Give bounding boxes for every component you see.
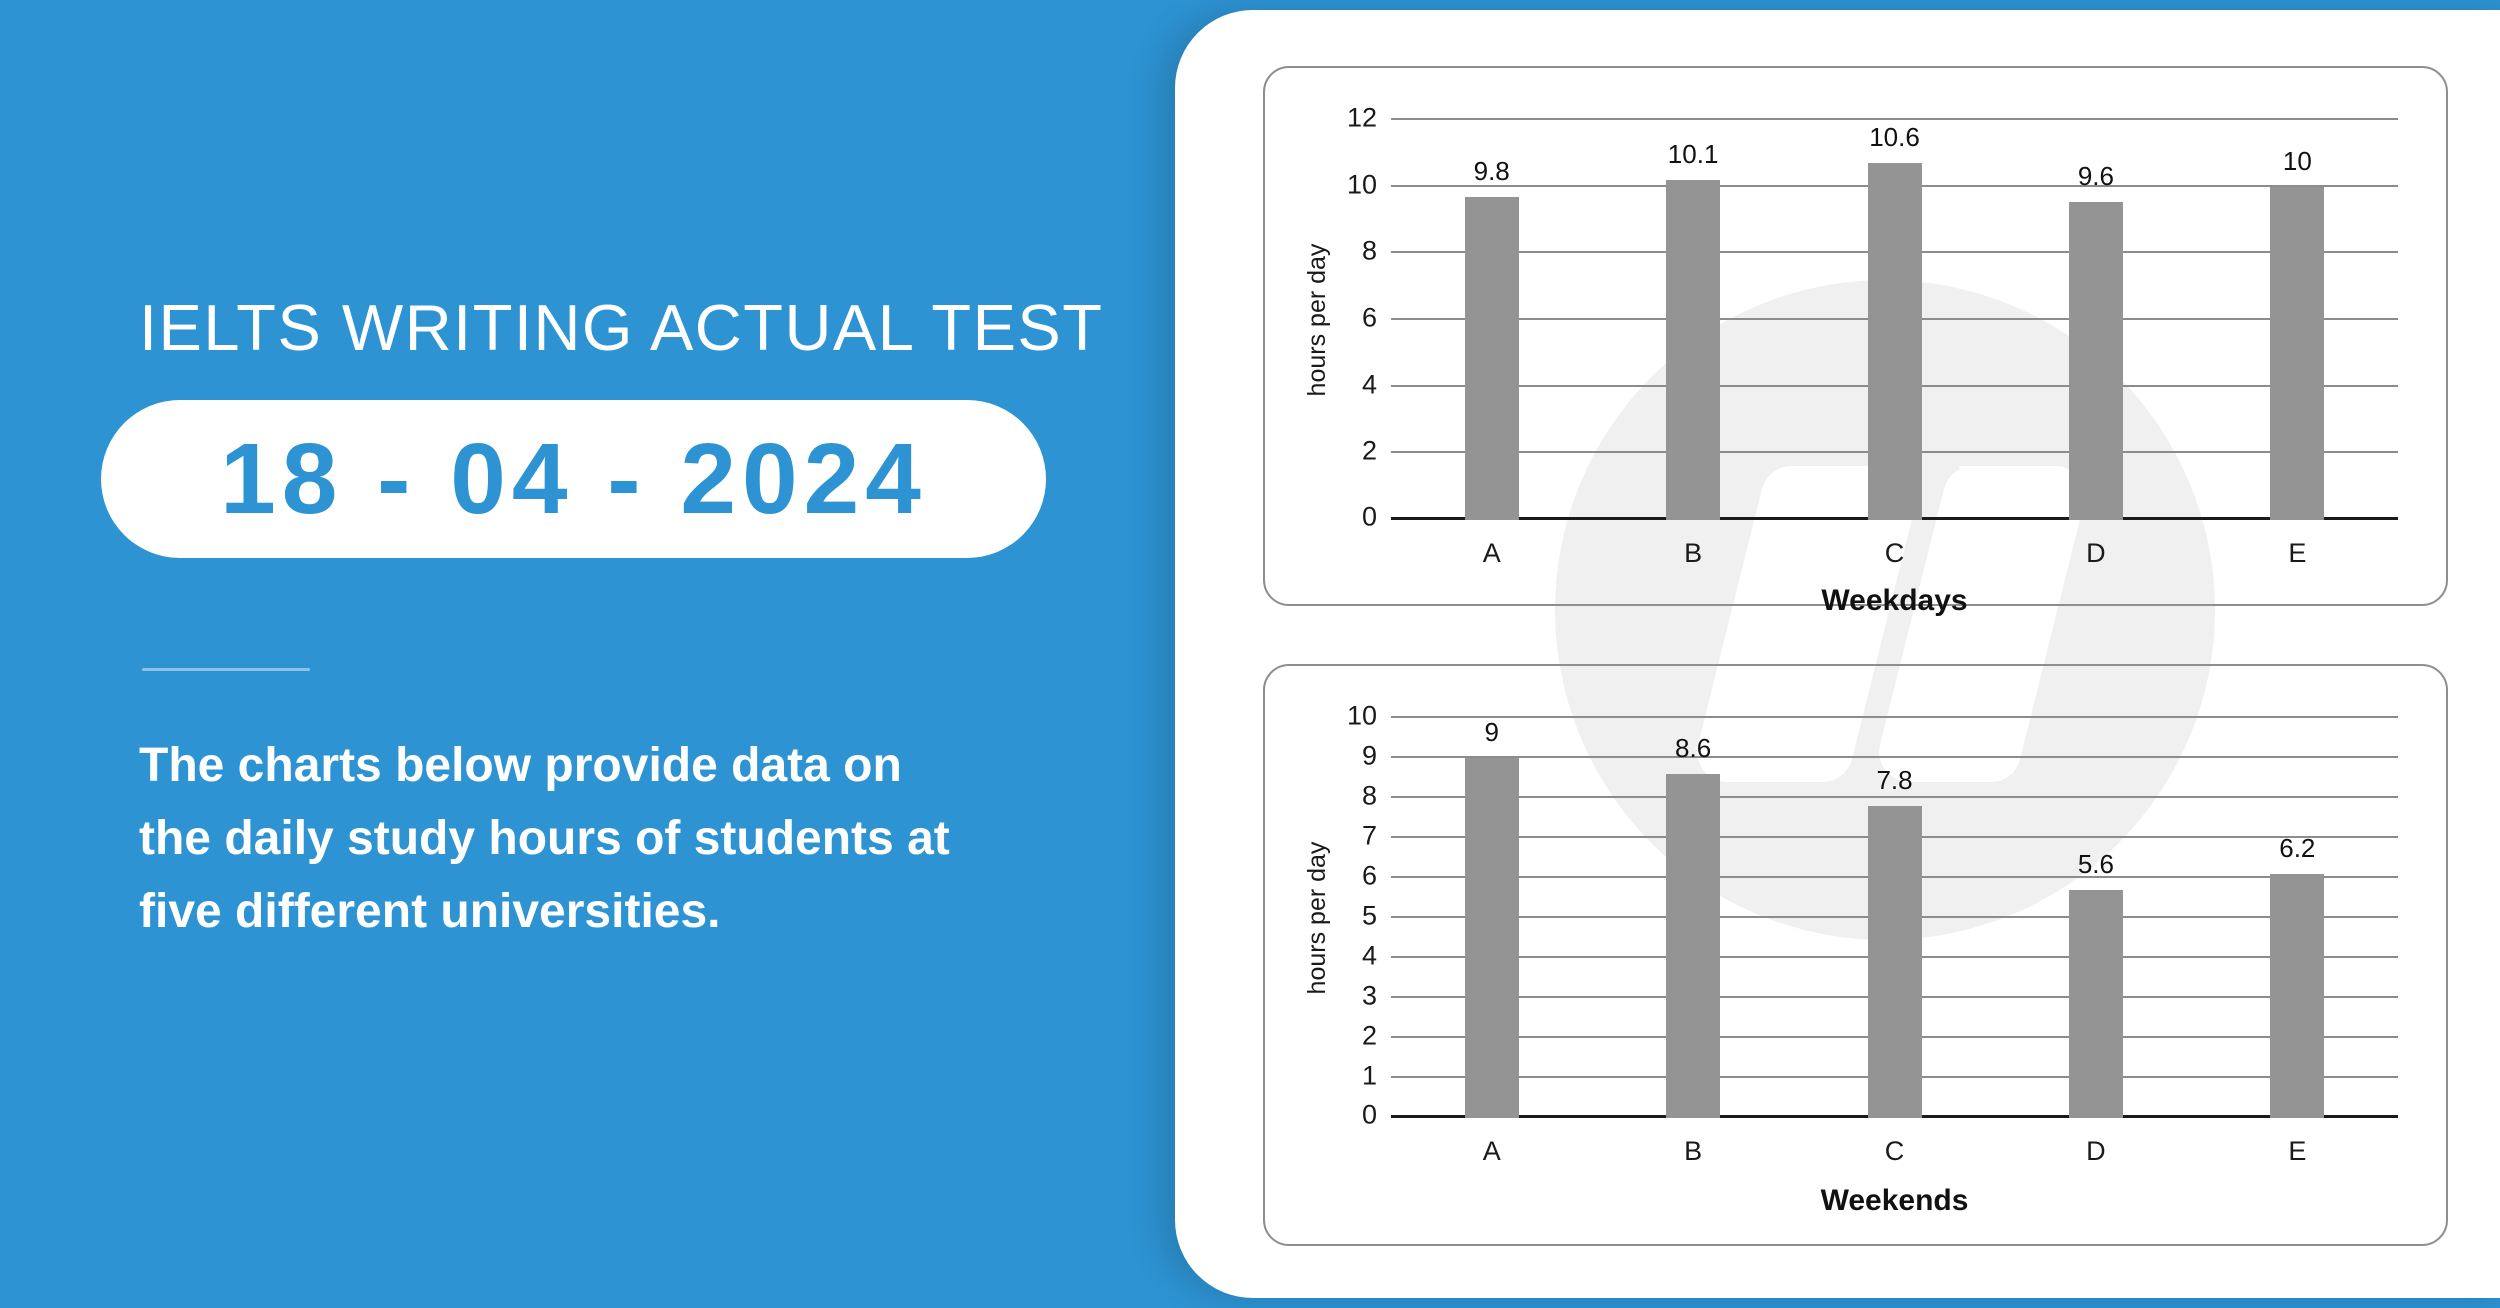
bar: 10.1: [1666, 180, 1720, 520]
x-axis-title: Weekdays: [1391, 584, 2398, 618]
chart-card-weekends: hours per day 012345678910 98.67.85.66.2…: [1263, 664, 2448, 1246]
plot-area: 024681012 9.810.110.69.610: [1391, 120, 2398, 520]
y-axis-tick-label: 6: [1362, 303, 1377, 334]
bar-group: 98.67.85.66.2: [1391, 718, 2398, 1118]
y-axis-tick-label: 1: [1362, 1061, 1377, 1092]
bar-value-label: 6.2: [2279, 833, 2315, 864]
bar-value-label: 10.6: [1869, 122, 1920, 153]
x-axis-tick-label: A: [1391, 538, 1592, 569]
y-axis-tick-label: 4: [1362, 369, 1377, 400]
chart-card-weekdays: hours per day 024681012 9.810.110.69.610…: [1263, 66, 2448, 606]
bar-slot: 10.1: [1592, 120, 1793, 520]
bar: 9.8: [1465, 197, 1519, 520]
bar-slot: 9.6: [1995, 120, 2196, 520]
bar-slot: 6.2: [2197, 718, 2398, 1118]
bar-value-label: 5.6: [2078, 849, 2114, 880]
plot-area: 012345678910 98.67.85.66.2: [1391, 718, 2398, 1118]
bar-slot: 5.6: [1995, 718, 2196, 1118]
bar: 9.6: [2069, 202, 2123, 520]
x-axis-tick-label: E: [2197, 538, 2398, 569]
bar-value-label: 9.6: [2078, 161, 2114, 192]
y-axis-tick-label: 8: [1362, 781, 1377, 812]
y-axis-tick-label: 4: [1362, 941, 1377, 972]
y-axis-tick-label: 0: [1362, 1100, 1377, 1131]
bar-value-label: 7.8: [1876, 765, 1912, 796]
left-hero-panel: IELTS WRITING ACTUAL TEST 18 - 04 - 2024…: [0, 0, 1230, 1308]
x-axis-tick-label: C: [1794, 538, 1995, 569]
y-axis-tick-label: 2: [1362, 436, 1377, 467]
x-axis-tick-labels: ABCDE: [1391, 538, 2398, 569]
chart-weekends: hours per day 012345678910 98.67.85.66.2…: [1265, 666, 2446, 1244]
y-axis-tick-label: 8: [1362, 236, 1377, 267]
y-axis-title: hours per day: [1303, 244, 1332, 397]
x-axis-tick-labels: ABCDE: [1391, 1136, 2398, 1167]
bar-slot: 10.6: [1794, 120, 1995, 520]
bar-slot: 7.8: [1794, 718, 1995, 1118]
bar-slot: 9.8: [1391, 120, 1592, 520]
y-axis-tick-label: 3: [1362, 981, 1377, 1012]
date-badge: 18 - 04 - 2024: [101, 400, 1046, 558]
x-axis-tick-label: A: [1391, 1136, 1592, 1167]
x-axis-tick-label: B: [1592, 1136, 1793, 1167]
chart-weekdays: hours per day 024681012 9.810.110.69.610…: [1265, 68, 2446, 604]
bar-value-label: 9: [1484, 717, 1498, 748]
bar: 6.2: [2270, 874, 2324, 1118]
bar-slot: 8.6: [1592, 718, 1793, 1118]
x-axis-tick-label: D: [1995, 1136, 2196, 1167]
bar-value-label: 9.8: [1474, 156, 1510, 187]
y-axis-tick-label: 9: [1362, 741, 1377, 772]
bar-value-label: 8.6: [1675, 733, 1711, 764]
bar-group: 9.810.110.69.610: [1391, 120, 2398, 520]
page-title: IELTS WRITING ACTUAL TEST: [139, 290, 1103, 365]
x-axis-tick-label: B: [1592, 538, 1793, 569]
bar-slot: 9: [1391, 718, 1592, 1118]
x-axis-tick-label: C: [1794, 1136, 1995, 1167]
x-axis-title: Weekends: [1391, 1184, 2398, 1218]
bar: 10.6: [1868, 163, 1922, 520]
bar: 9: [1465, 758, 1519, 1118]
x-axis-tick-label: E: [2197, 1136, 2398, 1167]
bar: 7.8: [1868, 806, 1922, 1118]
y-axis-tick-label: 10: [1347, 701, 1377, 732]
y-axis-title: hours per day: [1303, 842, 1332, 995]
task-description: The charts below provide data on the dai…: [139, 730, 979, 949]
y-axis-tick-label: 0: [1362, 502, 1377, 533]
x-axis-tick-label: D: [1995, 538, 2196, 569]
y-axis-tick-label: 5: [1362, 901, 1377, 932]
bar: 5.6: [2069, 890, 2123, 1118]
bar: 10: [2270, 187, 2324, 520]
y-axis-tick-label: 2: [1362, 1021, 1377, 1052]
y-axis-tick-label: 10: [1347, 169, 1377, 200]
bar-value-label: 10.1: [1668, 139, 1719, 170]
y-axis-tick-label: 6: [1362, 861, 1377, 892]
bar-slot: 10: [2197, 120, 2398, 520]
bar: 8.6: [1666, 774, 1720, 1118]
date-badge-label: 18 - 04 - 2024: [220, 422, 927, 537]
divider: [142, 668, 310, 671]
y-axis-tick-label: 7: [1362, 821, 1377, 852]
y-axis-tick-label: 12: [1347, 103, 1377, 134]
bar-value-label: 10: [2283, 146, 2312, 177]
